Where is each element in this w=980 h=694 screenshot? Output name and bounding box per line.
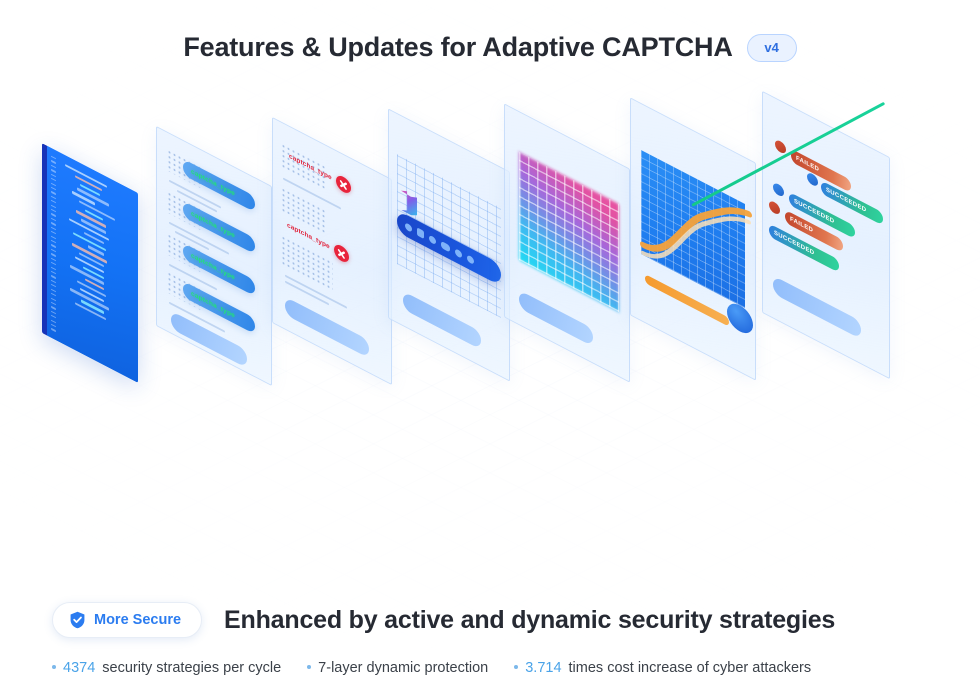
captcha-type-label: captcha_type: [191, 290, 235, 320]
bullet-icon: [307, 665, 311, 669]
captcha-type-label: captcha_type: [191, 210, 235, 240]
stat-label: 7-layer dynamic protection: [318, 660, 488, 676]
pill-icon: [441, 240, 450, 252]
stat-label: security strategies per cycle: [102, 660, 281, 676]
square-icon: [417, 227, 424, 239]
captcha-type-label: captcha_type: [191, 252, 235, 282]
error-x-icon: [334, 242, 349, 265]
panel-bottom-pill: [773, 275, 861, 339]
layer-code-editor: [42, 143, 138, 383]
panel-bottom-pill: [519, 290, 593, 346]
more-secure-label: More Secure: [94, 612, 181, 628]
gradient-mesh-overlay: [519, 152, 619, 312]
code-lines: [65, 164, 133, 372]
dot-icon: [405, 222, 412, 233]
status-avatar: [775, 138, 786, 155]
trend-curve-icon: [637, 142, 755, 323]
page-title: Features & Updates for Adaptive CAPTCHA: [183, 32, 732, 63]
bullet-icon: [52, 665, 56, 669]
status-avatar: [773, 181, 784, 198]
panel-bottom-pill: [285, 297, 369, 359]
stat-item: 3.714 times cost increase of cyber attac…: [514, 660, 811, 676]
page-header: Features & Updates for Adaptive CAPTCHA …: [0, 32, 980, 63]
version-badge[interactable]: v4: [747, 34, 797, 62]
bottom-headline: Enhanced by active and dynamic security …: [224, 606, 835, 635]
stat-item: 7-layer dynamic protection: [307, 660, 488, 676]
layer-gradient-heatmap: [504, 103, 630, 383]
stat-value: 4374: [63, 660, 95, 676]
stat-item: 4374 security strategies per cycle: [52, 660, 281, 676]
layer-captcha-type-green: captcha_type captcha_type captcha_type c…: [156, 126, 272, 386]
status-avatar: [769, 199, 780, 216]
stat-value: 3.714: [525, 660, 561, 676]
bullet-icon: [514, 665, 518, 669]
layer-icon-grid: [388, 108, 510, 381]
layer-captcha-type-red: captcha_type captcha_type: [272, 117, 392, 385]
shield-check-icon: [69, 611, 86, 629]
error-x-icon: [336, 173, 351, 196]
dot-icon: [455, 248, 462, 259]
layer-trend-chart: [630, 97, 756, 381]
dot-icon: [429, 234, 436, 245]
stat-label: times cost increase of cyber attackers: [569, 660, 812, 676]
stats-row: 4374 security strategies per cycle 7-lay…: [0, 660, 980, 676]
captcha-type-label: captcha_type: [191, 168, 235, 198]
more-secure-badge[interactable]: More Secure: [52, 602, 202, 638]
code-line-numbers: [51, 156, 60, 335]
illustration-stage: captcha_type captcha_type captcha_type c…: [0, 96, 980, 536]
headline-row: More Secure Enhanced by active and dynam…: [0, 602, 980, 638]
dot-icon: [467, 254, 474, 265]
bottom-section: More Secure Enhanced by active and dynam…: [0, 602, 980, 676]
